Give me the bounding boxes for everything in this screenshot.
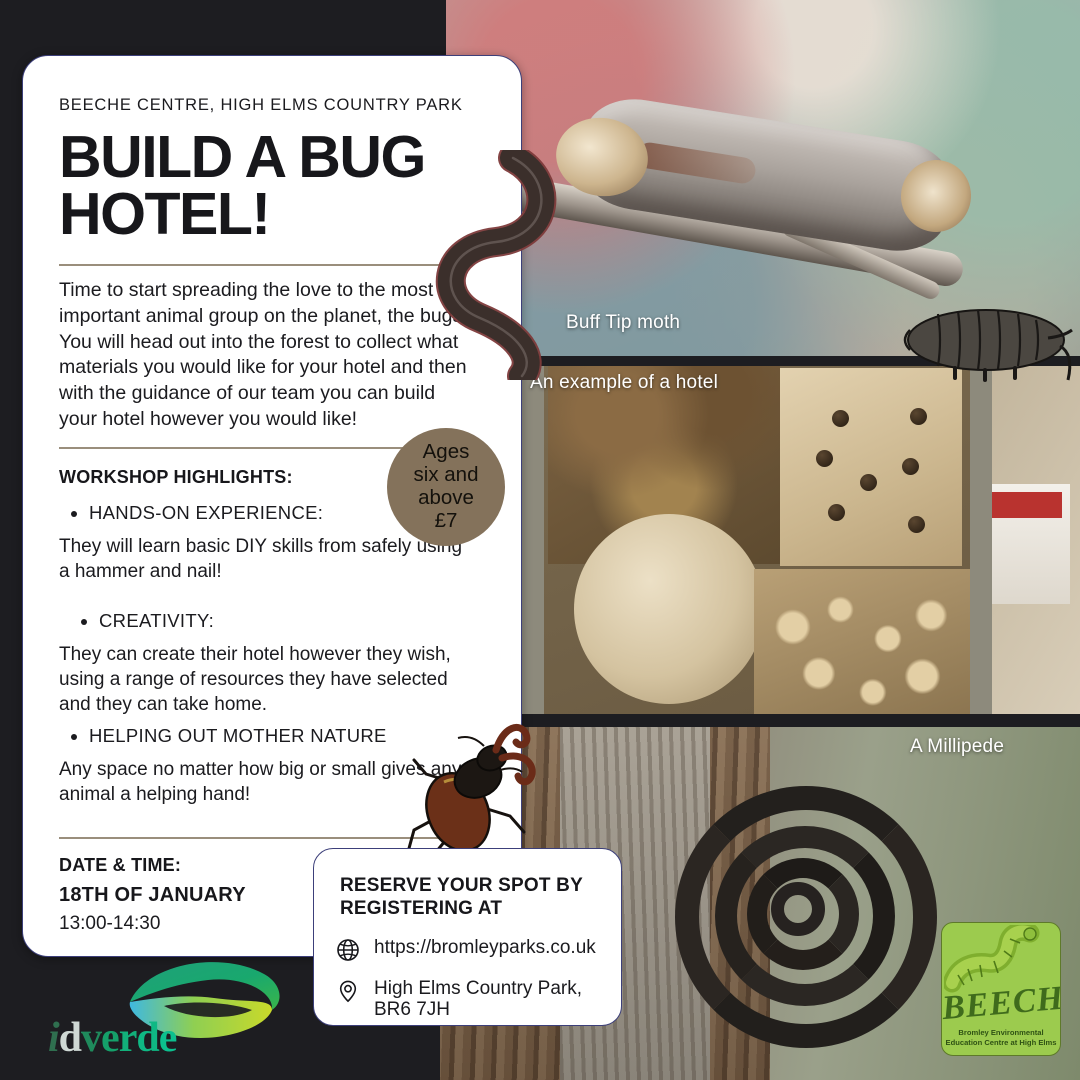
highlight-body-2: They can create their hotel however they… [59, 642, 473, 717]
divider-top [59, 264, 473, 266]
list-item: CREATIVITY: [99, 610, 473, 632]
beeche-subtitle: Bromley Environmental Education Centre a… [942, 1028, 1060, 1047]
woodlouse-illustration [898, 296, 1076, 388]
page-title: BUILD A BUG HOTEL! [59, 129, 473, 242]
hotel-log-slice-shape [574, 514, 764, 704]
venue-eyebrow: BEECHE CENTRE, HIGH ELMS COUNTRY PARK [59, 96, 473, 115]
reserve-address-text: High Elms Country Park, BR6 7JH [374, 978, 599, 1021]
globe-icon [336, 938, 360, 962]
reserve-card: RESERVE YOUR SPOT BY REGISTERING AT http… [313, 848, 622, 1026]
reserve-heading: RESERVE YOUR SPOT BY REGISTERING AT [314, 849, 621, 921]
reserve-website-row[interactable]: https://bromleyparks.co.uk [314, 937, 621, 962]
hotel-frame-shape [522, 364, 992, 714]
coiled-millipede-shape [675, 786, 911, 1022]
hotel-hollow-canes-shape [754, 569, 970, 714]
badge-line-2: six and [414, 464, 479, 487]
idverde-wordmark: idverde [48, 1014, 176, 1062]
photo-caption-millipede: A Millipede [910, 736, 1004, 758]
millipede-illustration [418, 150, 588, 380]
age-price-badge: Ages six and above £7 [387, 428, 505, 546]
intro-paragraph: Time to start spreading the love to the … [59, 278, 473, 432]
poster-root: Buff Tip moth An example of a hotel [0, 0, 1080, 1080]
beeche-subtitle-line-2: Education Centre at High Elms [942, 1038, 1060, 1047]
beeche-logo: BEECHE Bromley Environmental Education C… [941, 922, 1061, 1056]
badge-price: £7 [414, 510, 479, 533]
reserve-address-row: High Elms Country Park, BR6 7JH [314, 978, 621, 1021]
highlight-body-1: They will learn basic DIY skills from sa… [59, 534, 473, 584]
reserve-website-text[interactable]: https://bromleyparks.co.uk [374, 937, 596, 959]
idverde-logo: idverde [40, 958, 290, 1058]
badge-line-3: above [414, 487, 479, 510]
page-title-line-2: HOTEL! [59, 181, 270, 247]
beeche-subtitle-line-1: Bromley Environmental [942, 1028, 1060, 1037]
photo-bug-hotel: An example of a hotel [518, 364, 1080, 714]
hotel-drilled-block-shape [780, 368, 962, 566]
map-pin-icon [336, 979, 360, 1003]
highlight-list-2: CREATIVITY: [59, 610, 473, 632]
badge-line-1: Ages [414, 441, 479, 464]
